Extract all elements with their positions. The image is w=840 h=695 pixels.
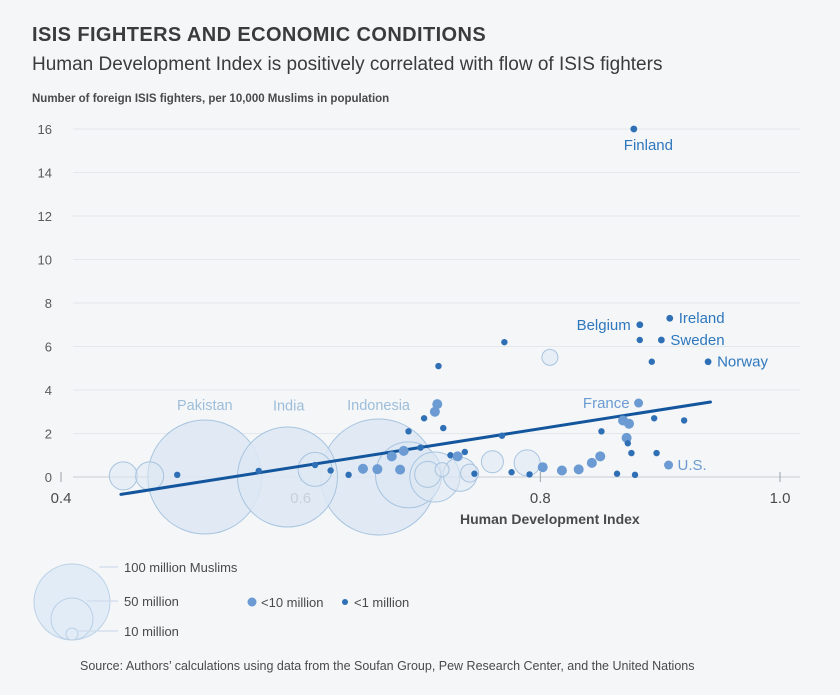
data-point: [447, 452, 453, 458]
legend-dot-marker: [342, 599, 348, 605]
data-point: [501, 339, 507, 345]
country-label-indonesia: Indonesia: [347, 398, 411, 414]
data-point: [399, 446, 409, 456]
data-point: [471, 471, 477, 477]
x-tick-label: 0.4: [51, 490, 72, 507]
data-point: [405, 428, 411, 434]
legend-dot-label: <10 million: [261, 595, 324, 610]
legend-dot-marker: [248, 598, 257, 607]
data-point: [435, 363, 441, 369]
data-point: [681, 417, 687, 423]
country-label-sweden: Sweden: [670, 332, 724, 349]
y-tick-label: 2: [45, 427, 52, 442]
data-point: [625, 440, 631, 446]
data-point: [614, 471, 620, 477]
data-point: [358, 464, 368, 474]
data-point: [649, 359, 655, 365]
y-tick-label: 12: [38, 209, 52, 224]
y-tick-label: 8: [45, 296, 52, 311]
data-point: [538, 462, 548, 472]
data-point: [632, 472, 638, 478]
data-point: [651, 415, 657, 421]
data-point: [372, 464, 382, 474]
population-bubble: [136, 462, 164, 490]
data-points: [174, 126, 711, 478]
data-point-norway: [705, 358, 712, 365]
country-labels: FinlandBelgiumIrelandSwedenNorwayFranceU…: [177, 137, 768, 474]
chart-legend: 100 million Muslims50 million10 million<…: [34, 560, 409, 640]
data-point: [499, 432, 505, 438]
population-bubbles: [109, 349, 558, 535]
data-point: [598, 428, 604, 434]
data-point: [628, 450, 634, 456]
data-point-us: [664, 461, 673, 470]
x-tick-label: 1.0: [770, 490, 791, 507]
population-bubble: [481, 451, 503, 473]
country-label-pakistan: Pakistan: [177, 398, 233, 414]
data-point: [526, 471, 532, 477]
data-point: [387, 451, 397, 461]
data-point: [440, 425, 446, 431]
data-point-ireland: [666, 315, 673, 322]
x-tick-label: 0.8: [530, 490, 551, 507]
data-point: [432, 399, 442, 409]
data-point: [453, 451, 463, 461]
y-tick-label: 14: [38, 166, 52, 181]
legend-size-label: 100 million Muslims: [124, 560, 238, 575]
data-point: [174, 472, 180, 478]
chart-page: ISIS FIGHTERS AND ECONOMIC CONDITIONS Hu…: [0, 0, 840, 695]
data-point: [624, 419, 634, 429]
y-tick-label: 16: [38, 122, 52, 137]
data-point: [653, 450, 659, 456]
country-label-belgium: Belgium: [577, 317, 631, 334]
data-point: [256, 468, 262, 474]
data-point: [327, 467, 333, 473]
data-point: [574, 464, 584, 474]
data-point: [421, 415, 427, 421]
country-label-ireland: Ireland: [679, 310, 725, 327]
data-point-france: [634, 399, 643, 408]
y-tick-label: 4: [45, 383, 52, 398]
legend-size-label: 50 million: [124, 594, 179, 609]
data-point: [637, 337, 643, 343]
y-tick-label: 0: [45, 470, 52, 485]
data-point: [595, 451, 605, 461]
country-label-us: U.S.: [678, 457, 707, 474]
legend-dot-label: <1 million: [354, 595, 409, 610]
data-point: [417, 444, 423, 450]
y-tick-label: 6: [45, 340, 52, 355]
population-bubble: [514, 450, 540, 476]
scatter-plot: 0246810121416 0.40.60.81.0 FinlandBelgiu…: [0, 0, 840, 695]
data-point: [508, 469, 514, 475]
data-point: [557, 465, 567, 475]
data-point-belgium: [636, 321, 643, 328]
country-label-finland: Finland: [624, 137, 673, 154]
legend-size-circle: [66, 628, 78, 640]
population-bubble: [542, 349, 558, 365]
population-bubble: [298, 452, 332, 486]
data-point-finland: [630, 126, 637, 133]
country-label-france: France: [583, 395, 630, 412]
population-bubble: [109, 462, 137, 490]
data-point: [395, 465, 405, 475]
country-label-norway: Norway: [717, 354, 768, 371]
legend-size-label: 10 million: [124, 624, 179, 639]
y-tick-labels: 0246810121416: [38, 122, 52, 485]
data-point: [587, 458, 597, 468]
data-point-sweden: [658, 337, 665, 344]
data-point: [462, 449, 468, 455]
country-label-india: India: [273, 398, 305, 414]
y-tick-label: 10: [38, 253, 52, 268]
population-bubble: [435, 463, 449, 477]
data-point: [345, 472, 351, 478]
data-point: [312, 462, 318, 468]
